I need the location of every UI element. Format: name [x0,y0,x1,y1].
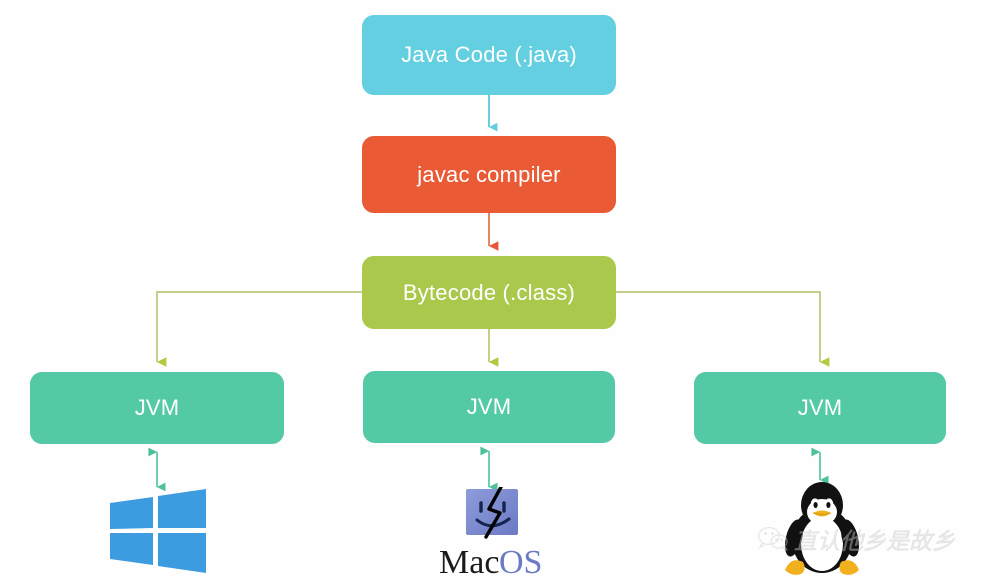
node-jvm-mac[interactable]: JVM [363,371,615,443]
node-javac-compiler-label: javac compiler [417,162,560,188]
node-jvm-mac-label: JVM [467,394,512,420]
edge-bytecode-to-jvm-windows [157,292,362,362]
windows-logo-icon [108,489,208,573]
node-bytecode-label: Bytecode (.class) [403,280,575,306]
node-bytecode[interactable]: Bytecode (.class) [362,256,616,329]
node-java-code-label: Java Code (.java) [401,42,577,68]
linux-tux-logo-icon [777,478,867,578]
node-javac-compiler[interactable]: javac compiler [362,136,616,213]
node-jvm-linux[interactable]: JVM [694,372,946,444]
node-java-code[interactable]: Java Code (.java) [362,15,616,95]
diagram-canvas: Java Code (.java) javac compiler Bytecod… [0,0,1000,582]
macos-logo: Mac OS [437,487,547,579]
edge-bytecode-to-jvm-linux [616,292,820,362]
node-jvm-windows[interactable]: JVM [30,372,284,444]
node-jvm-windows-label: JVM [135,395,180,421]
node-jvm-linux-label: JVM [798,395,843,421]
macos-label-mac: Mac [439,544,499,579]
macos-label-os: OS [499,544,542,579]
